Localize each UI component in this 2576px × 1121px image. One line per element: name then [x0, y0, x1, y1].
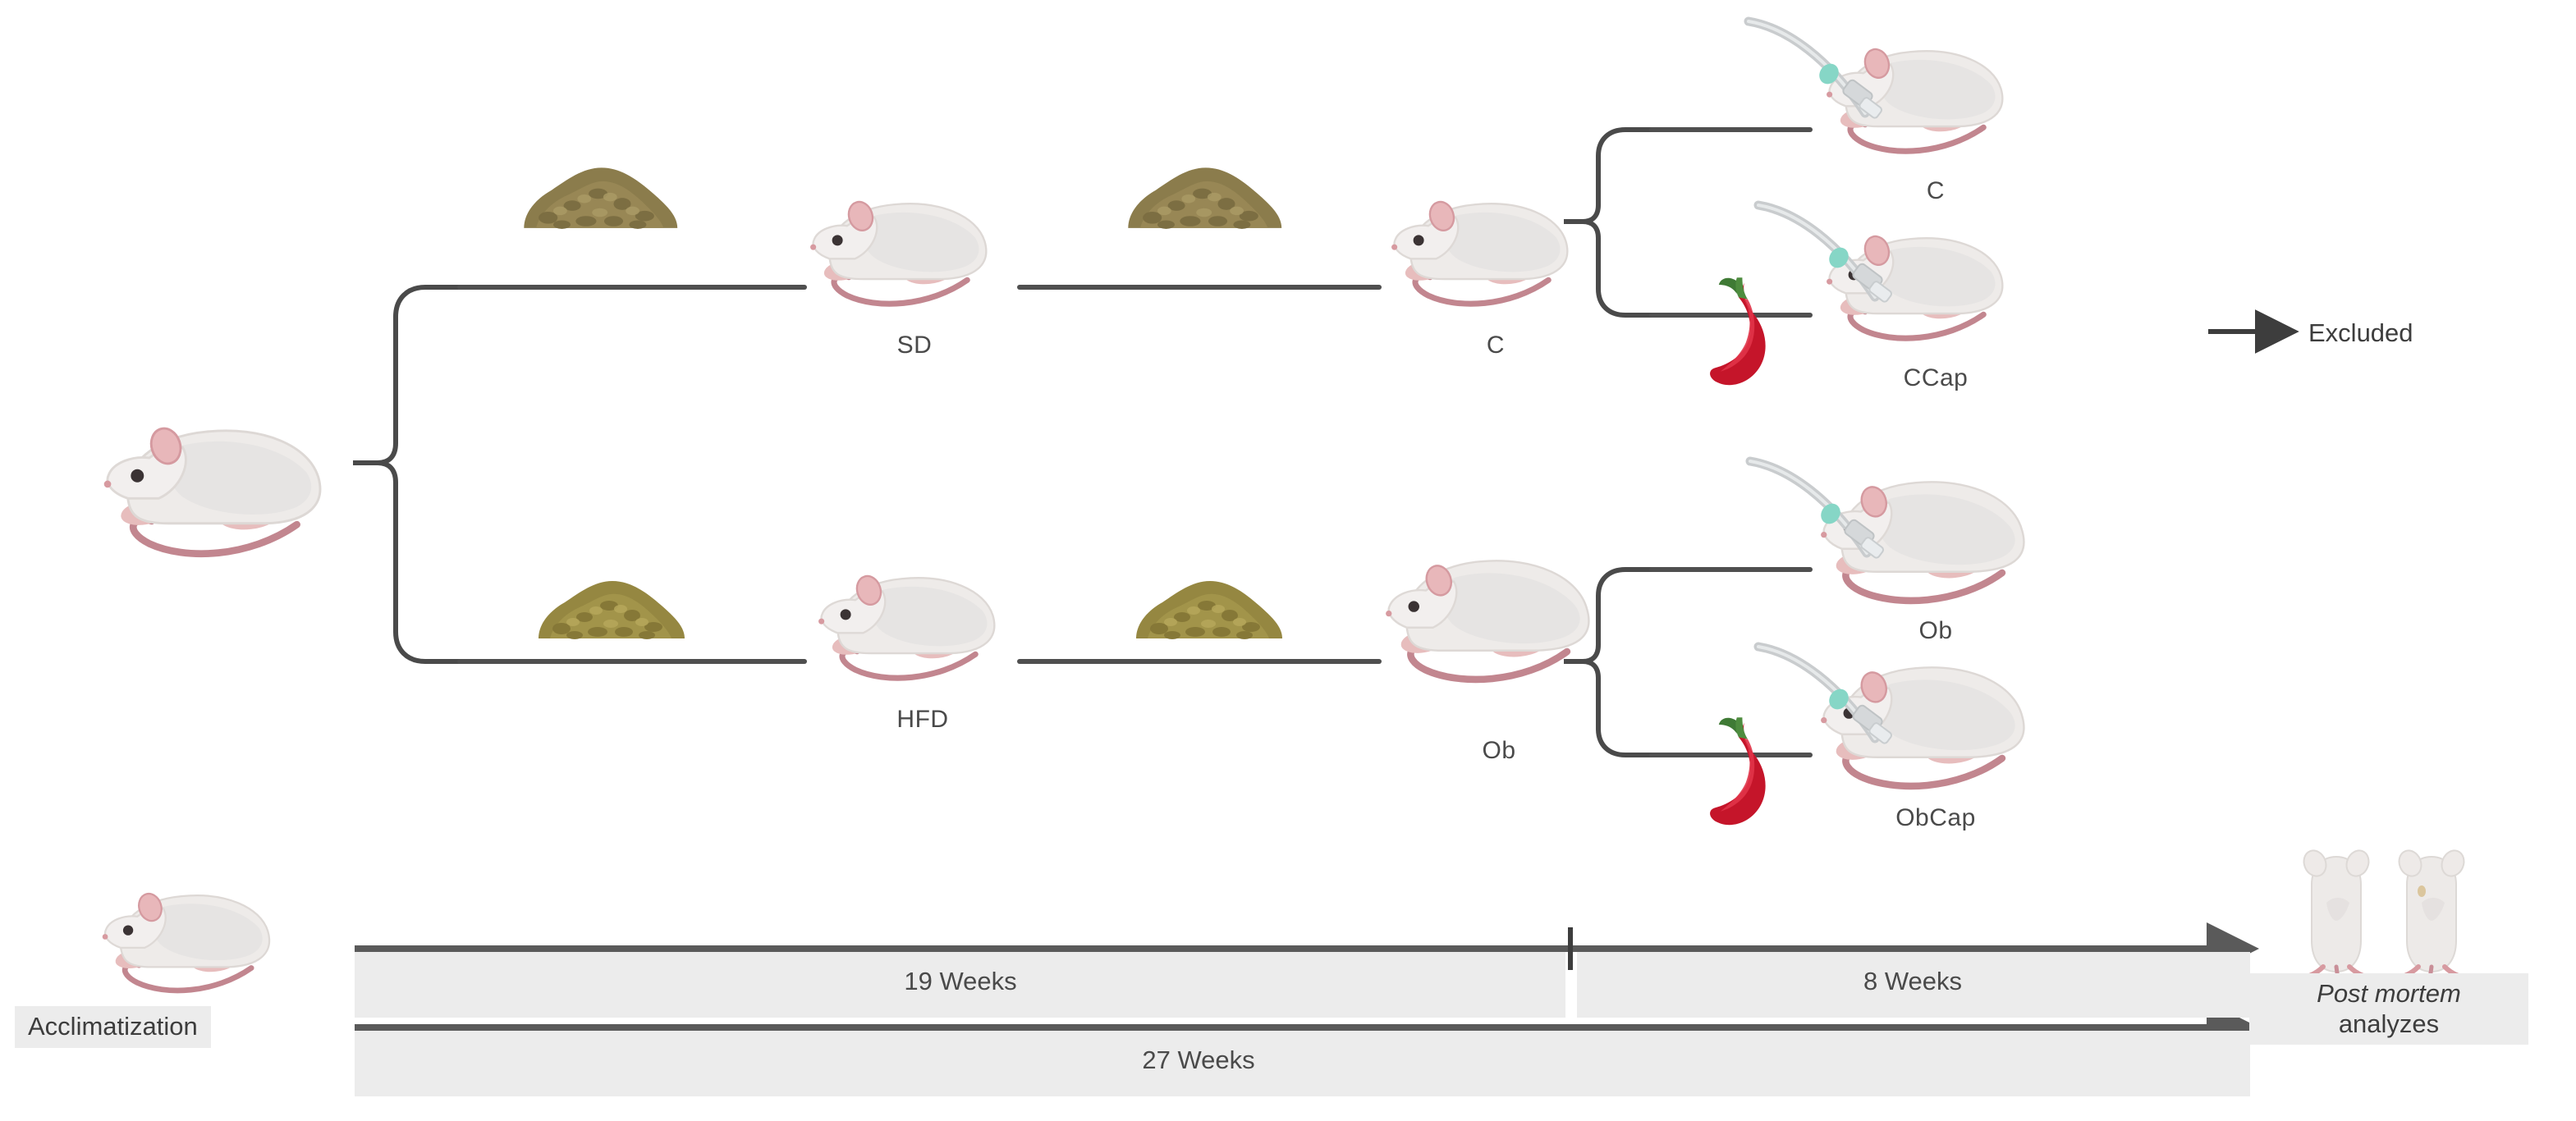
rat-icon-start — [104, 424, 320, 553]
excluded-label: Excluded — [2308, 318, 2413, 348]
rat-icon-group-ob — [1821, 482, 2024, 601]
bracket-c-split — [1564, 130, 1652, 315]
rat-icon-group-obcap — [1821, 667, 2024, 786]
group-label-obcap: ObCap — [1895, 804, 1976, 832]
diet-label-hfd: HFD — [896, 706, 948, 734]
group-label-ob: Ob — [1918, 617, 1952, 645]
rat-icon-hfd — [818, 573, 994, 678]
connector-lines — [460, 130, 1810, 755]
timeline-label-19weeks: 19 Weeks — [904, 967, 1016, 996]
gavage-needle-icon-obcap — [1758, 647, 1893, 744]
rat-icon-group-c — [1827, 46, 2002, 151]
timeline-band-27weeks — [355, 1031, 2250, 1096]
group-label-c: C — [1927, 177, 1945, 205]
rat-icon-group-ccap — [1827, 233, 2002, 338]
phenotype-label-ob: Ob — [1482, 737, 1515, 765]
rat-icon-c — [1391, 199, 1567, 304]
timeline-label-8weeks: 8 Weeks — [1863, 967, 1962, 996]
post-mortem-title: Post mortem — [2262, 979, 2515, 1009]
post-mortem-chip: Post mortem analyzes — [2249, 973, 2528, 1045]
rat-icon-acclimatization — [103, 890, 269, 990]
gavage-needle-icon-ob — [1750, 461, 1885, 559]
food-pellet-pile-icon-hfd — [539, 581, 685, 639]
bracket-diet-split — [353, 287, 460, 661]
bracket-ob-split — [1564, 570, 1652, 755]
gavage-needle-icon-ccap — [1758, 205, 1893, 303]
figure-canvas: SD HFD C Ob C CCap Ob ObCap Excluded 19 … — [0, 0, 2576, 1121]
post-mortem-subtitle: analyzes — [2262, 1009, 2515, 1040]
food-pellet-pile-icon-c — [1128, 167, 1281, 229]
chili-pepper-icon-obcap — [1710, 717, 1766, 825]
gavage-needle-icon-c — [1749, 21, 1883, 119]
food-pellet-pile-icon-ob — [1136, 581, 1282, 639]
acclimatization-chip: Acclimatization — [15, 1006, 211, 1048]
rat-icon-ob — [1386, 560, 1588, 679]
phenotype-label-c: C — [1487, 332, 1505, 359]
timeline-label-27weeks: 27 Weeks — [1142, 1046, 1254, 1075]
rat-icon-sd — [810, 199, 986, 304]
group-label-ccap: CCap — [1904, 364, 1969, 392]
food-pellet-pile-icon-sd — [524, 167, 677, 229]
diet-label-sd: SD — [897, 332, 933, 359]
acclimatization-label: Acclimatization — [28, 1012, 198, 1042]
chili-pepper-icon-ccap — [1710, 277, 1766, 385]
